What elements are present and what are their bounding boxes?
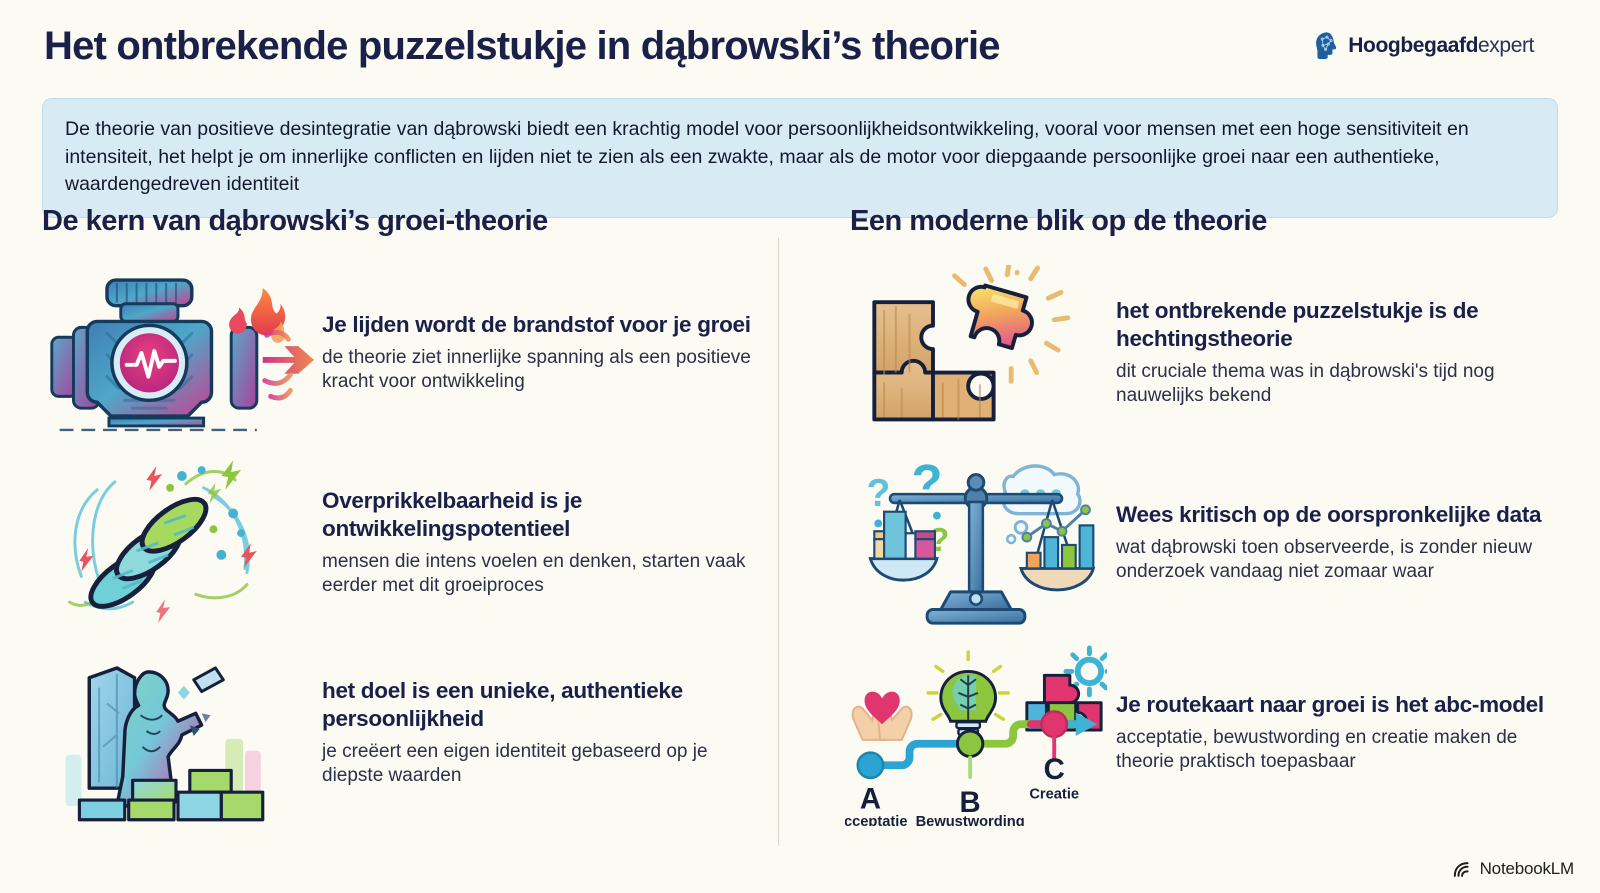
list-item-title: Je lijden wordt de brandstof voor je gro… [322, 311, 766, 339]
intro-banner: De theorie van positieve desintegratie v… [42, 98, 1558, 218]
list-item-title: Wees kritisch op de oorspronkelijke data [1116, 501, 1556, 529]
jigsaw-missing-piece-icon [842, 263, 1110, 443]
notebooklm-icon [1453, 861, 1473, 878]
list-item-desc: de theorie ziet innerlijke spanning als … [322, 346, 766, 395]
svg-text:?: ? [867, 472, 891, 515]
self-sculpting-statue-icon [36, 643, 316, 823]
brain-head-icon [1313, 31, 1341, 61]
list-item-desc: wat dąbrowski toen observeerde, is zonde… [1116, 536, 1556, 585]
list-item-desc: acceptatie, bewustwording en creatie mak… [1116, 726, 1556, 775]
brand-name-light: expert [1478, 34, 1534, 57]
column-left: De kern van dąbrowski’s groei-theorie [0, 205, 800, 845]
page-title: Het ontbrekende puzzelstukje in dąbrowsk… [44, 24, 1000, 68]
column-right-heading: Een moderne blik op de theorie [842, 205, 1560, 238]
abc-node-a [858, 753, 883, 778]
abc-letter-c: C [1044, 753, 1065, 786]
list-item-title: het ontbrekende puzzelstukje is de hecht… [1116, 297, 1556, 353]
list-item-desc: dit cruciale thema was in dąbrowski's ti… [1116, 360, 1556, 409]
notebooklm-label: NotebookLM [1480, 859, 1574, 879]
list-item-text: Wees kritisch op de oorspronkelijke data… [1116, 501, 1560, 585]
list-item-text: het ontbrekende puzzelstukje is de hecht… [1116, 297, 1560, 409]
list-item: Je lijden wordt de brandstof voor je gro… [36, 258, 770, 448]
list-item: Overprikkelbaarheid is je ontwikkelingsp… [36, 448, 770, 638]
infographic-page: Het ontbrekende puzzelstukje in dąbrowsk… [0, 0, 1600, 893]
list-item-text: Overprikkelbaarheid is je ontwikkelingsp… [322, 487, 770, 599]
notebooklm-watermark: NotebookLM [1453, 859, 1574, 879]
abc-letter-a: A [860, 782, 881, 815]
brand-name-bold: Hoogbegaafd [1348, 34, 1478, 57]
abc-node-c [1042, 711, 1067, 736]
abc-node-b [957, 731, 982, 756]
brand-logo: Hoogbegaafdexpert [1313, 31, 1534, 61]
abc-label-c: Creatie [1029, 787, 1079, 803]
brand-name: Hoogbegaafdexpert [1348, 34, 1534, 58]
list-item-desc: je creëert een eigen identiteit gebaseer… [322, 740, 766, 789]
list-item-title: Overprikkelbaarheid is je ontwikkelingsp… [322, 487, 766, 543]
list-item-title: het doel is een unieke, authentieke pers… [322, 677, 766, 733]
column-left-heading: De kern van dąbrowski’s groei-theorie [36, 205, 770, 238]
list-item: ? ? ? [842, 448, 1560, 638]
abc-label-a: Acceptatie [845, 814, 907, 826]
list-item-text: Je routekaart naar groei is het abc-mode… [1116, 691, 1560, 775]
list-item-desc: mensen die intens voelen en denken, star… [322, 550, 766, 599]
abc-label-b: Bewustwording [916, 814, 1025, 826]
content-columns: De kern van dąbrowski’s groei-theorie [0, 205, 1600, 845]
list-item-title: Je routekaart naar groei is het abc-mode… [1116, 691, 1556, 719]
engine-with-flames-icon [36, 263, 316, 443]
list-item-text: het doel is een unieke, authentieke pers… [322, 677, 770, 789]
page-header: Het ontbrekende puzzelstukje in dąbrowsk… [0, 0, 1600, 92]
list-item: het doel is een unieke, authentieke pers… [36, 638, 770, 828]
intro-text: De theorie van positieve desintegratie v… [65, 116, 1535, 199]
column-right: Een moderne blik op de theorie [800, 205, 1600, 845]
list-item: het ontbrekende puzzelstukje is de hecht… [842, 258, 1560, 448]
list-item: A B C Creatie Acceptatie Bewustwording J… [842, 638, 1560, 828]
dna-helix-energy-icon [36, 453, 316, 633]
abc-roadmap-icon: A B C Creatie Acceptatie Bewustwording [842, 643, 1110, 823]
list-item-text: Je lijden wordt de brandstof voor je gro… [322, 311, 770, 395]
balance-scale-data-icon: ? ? ? [842, 453, 1110, 633]
